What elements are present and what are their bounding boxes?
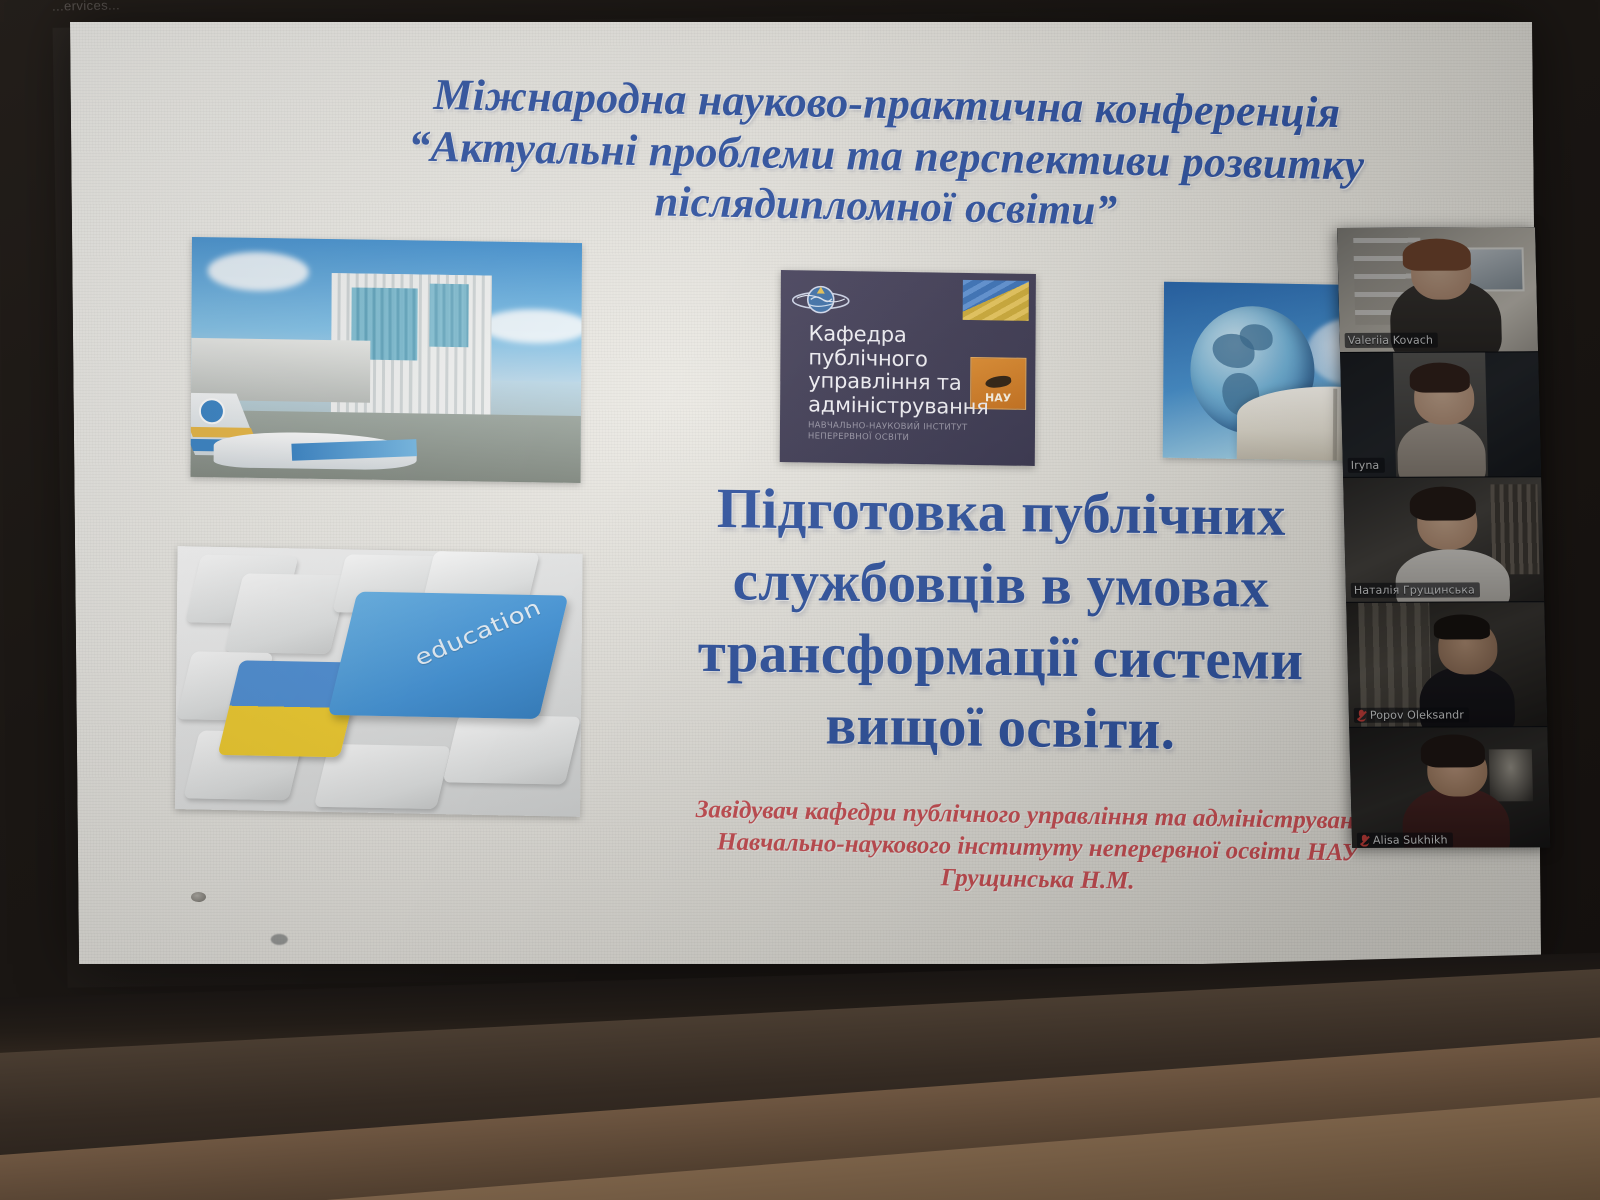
video-participant-panel[interactable]: Valeriia Kovach Iryna Наталія Грущинська [1337, 227, 1550, 848]
participant-hair [1434, 615, 1490, 640]
participant-hair [1410, 486, 1476, 521]
video-tile[interactable]: Valeriia Kovach [1337, 227, 1538, 353]
os-top-left-text: ...ervices... [52, 0, 120, 14]
education-key-label: education [411, 594, 545, 671]
participant-name-badge: Popov Oleksandr [1354, 707, 1469, 722]
slide-author-credits: Завідувач кафедри публічного управління … [638, 793, 1439, 903]
tower-glass-band [429, 284, 468, 347]
department-name-line-4: адміністрування [808, 393, 1008, 420]
mic-muted-icon [1357, 710, 1366, 721]
laptop-screen[interactable]: Міжнародна науково-практична конференція… [70, 22, 1541, 964]
participant-name-label: Наталія Грущинська [1354, 583, 1475, 596]
department-logo-panel: НАУ Кафедра публічного управління та адм… [780, 270, 1036, 466]
education-key: education [328, 592, 568, 719]
participant-name-label: Alisa Sukhikh [1373, 833, 1448, 846]
video-tile[interactable]: Alisa Sukhikh [1349, 727, 1550, 848]
landmass-shape [1240, 324, 1273, 350]
participant-hair [1421, 735, 1485, 767]
department-name: Кафедра публічного управління та адмініс… [808, 322, 1009, 419]
slide-main-title: Підготовка публічних службовців в умовах… [595, 471, 1406, 770]
institute-name: НАВЧАЛЬНО-НАУКОВИЙ ІНСТИТУТ НЕПЕРЕРВНОЇ … [808, 420, 988, 444]
main-title-line-3: трансформації системи [595, 615, 1405, 698]
mic-muted-icon [1360, 835, 1369, 846]
university-emblem-icon [791, 278, 851, 323]
main-title-line-2: службовців в умовах [596, 543, 1406, 626]
keyboard-key [443, 715, 581, 785]
video-tile[interactable]: Popov Oleksandr [1346, 602, 1547, 728]
participant-name-badge: Наталія Грущинська [1351, 582, 1480, 597]
university-building-photo [191, 237, 582, 483]
participant-hair [1410, 362, 1470, 392]
keyboard-education-photo: education [175, 546, 583, 817]
participant-name-label: Iryna [1351, 459, 1380, 472]
participant-name-badge: Alisa Sukhikh [1357, 832, 1453, 847]
screenshot-root: ...ervices... Міжнародна науково-практич… [0, 0, 1600, 1200]
participant-hair [1403, 239, 1471, 271]
main-title-line-1: Підготовка публічних [596, 471, 1406, 554]
ukraine-flag-graphic [963, 280, 1029, 321]
conference-title: Міжнародна науково-практична конференція… [370, 68, 1402, 243]
participant-name-label: Popov Oleksandr [1370, 708, 1464, 721]
participant-body [1397, 422, 1486, 478]
main-title-line-4: вищої освіти. [595, 687, 1405, 770]
video-tile[interactable]: Iryna [1340, 352, 1541, 478]
keyboard-key [224, 574, 348, 655]
screen-dust-speck [271, 934, 288, 945]
participant-name-badge: Iryna [1348, 458, 1385, 473]
lamp-light [1488, 750, 1533, 802]
participant-name-label: Valeriia Kovach [1348, 334, 1434, 347]
video-tile[interactable]: Наталія Грущинська [1343, 477, 1544, 603]
aircraft-roundel-icon [199, 398, 225, 424]
participant-name-badge: Valeriia Kovach [1345, 333, 1439, 348]
